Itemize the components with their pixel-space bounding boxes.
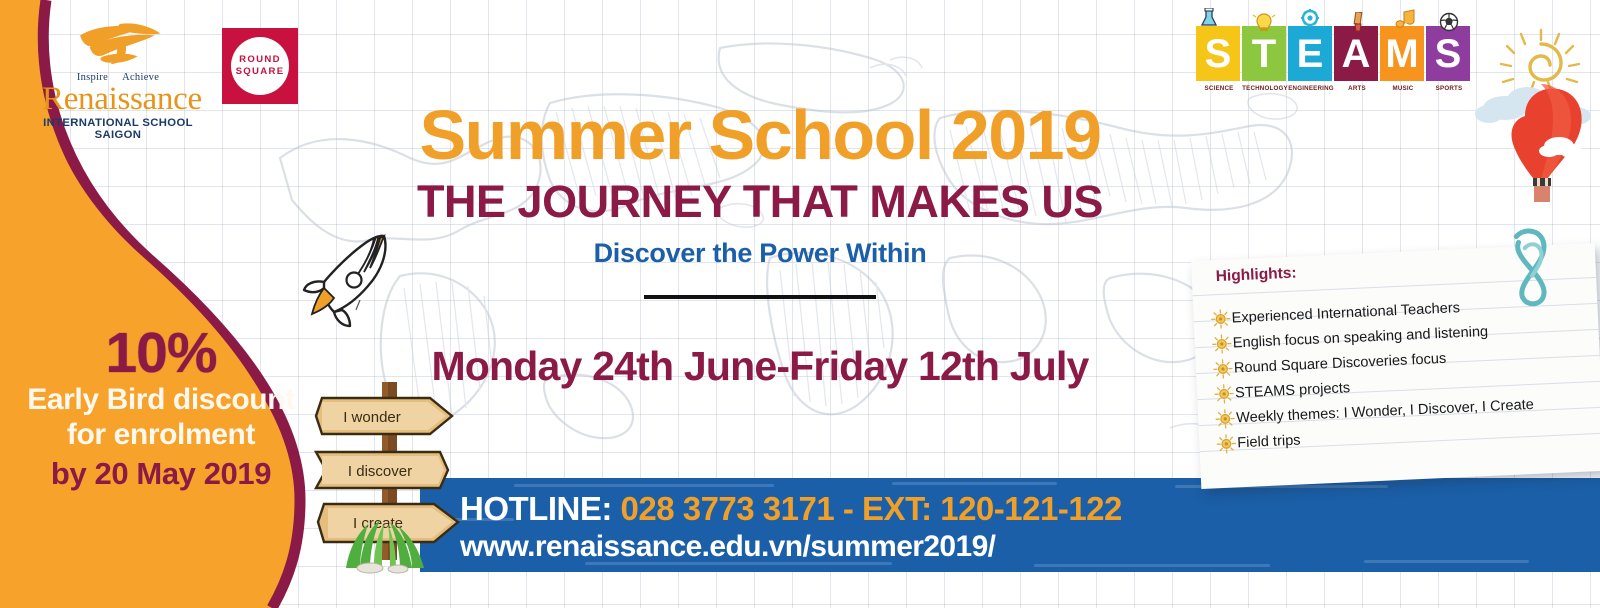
- promo-line-2: for enrolment: [0, 417, 322, 452]
- round-square-line-1: ROUND: [239, 54, 281, 66]
- steams-letter-science: SSCIENCE: [1196, 22, 1242, 92]
- round-square-line-2: SQUARE: [236, 66, 285, 78]
- round-square-logo: ROUND SQUARE: [222, 28, 298, 104]
- sky-decoration: [1475, 20, 1600, 210]
- steams-letter-box: S: [1426, 26, 1470, 81]
- page-tagline: Discover the Power Within: [330, 238, 1190, 269]
- sun-flower-icon: [1210, 332, 1233, 355]
- hotline-number: 028 3773 3171 - EXT: 120-121-122: [621, 490, 1122, 527]
- highlight-item-label: STEAMS projects: [1235, 380, 1351, 401]
- svg-text:I discover: I discover: [348, 463, 412, 480]
- highlight-item-label: Field trips: [1237, 432, 1301, 451]
- signpost-graphic: I wonder I discover I create: [312, 372, 472, 574]
- steams-letter-label: ARTS: [1334, 85, 1380, 92]
- spiral-sun-icon: [1501, 30, 1579, 90]
- highlights-title: Highlights:: [1215, 265, 1297, 287]
- lightbulb-icon: [1242, 12, 1286, 32]
- steams-letter-label: SPORTS: [1426, 85, 1472, 92]
- hotline-text: HOTLINE: 028 3773 3171 - EXT: 120-121-12…: [460, 490, 1122, 564]
- svg-text:I wonder: I wonder: [343, 409, 401, 426]
- steams-letter-label: ENGINEERING: [1288, 85, 1334, 92]
- divider: [644, 295, 876, 299]
- steams-letter-sports: SSPORTS: [1426, 26, 1472, 92]
- hotline-label: HOTLINE:: [460, 490, 612, 527]
- paintbrush-icon: [1334, 12, 1378, 32]
- steams-letter-box: S: [1196, 26, 1240, 81]
- headline-block: Summer School 2019 THE JOURNEY THAT MAKE…: [330, 100, 1190, 390]
- promo-deadline: by 20 May 2019: [0, 455, 322, 492]
- highlights-card: Highlights: Experienced International Te…: [1191, 243, 1600, 489]
- website-url[interactable]: www.renaissance.edu.vn/summer2019/: [460, 530, 1122, 564]
- steams-letter-engineering: EENGINEERING: [1288, 22, 1334, 92]
- page-subtitle: THE JOURNEY THAT MAKES US: [330, 176, 1190, 228]
- renaissance-subtitle: INTERNATIONAL SCHOOL SAIGON: [42, 117, 194, 141]
- sun-flower-icon: [1215, 432, 1238, 455]
- sun-flower-icon: [1213, 382, 1236, 405]
- sun-flower-icon: [1211, 357, 1234, 380]
- steams-letter-box: T: [1242, 26, 1286, 81]
- early-bird-promo: 10% Early Bird discount for enrolment by…: [0, 325, 322, 492]
- logo-group: InspireAchieve Renaissance INTERNATIONAL…: [42, 22, 298, 141]
- steams-letter-label: TECHNOLOGY: [1242, 85, 1288, 92]
- renaissance-logo: InspireAchieve Renaissance INTERNATIONAL…: [42, 22, 194, 141]
- signpost-sign-create: I create: [318, 504, 458, 542]
- steams-letter-arts: AARTS: [1334, 26, 1380, 92]
- flame-swoosh-icon: [61, 22, 176, 66]
- steams-letter-technology: TTECHNOLOGY: [1242, 26, 1288, 92]
- music-note-icon: [1380, 8, 1424, 28]
- steams-letter-label: MUSIC: [1380, 85, 1426, 92]
- page-title: Summer School 2019: [330, 100, 1190, 170]
- rocket-icon: [296, 228, 406, 328]
- paperclip-icon: [1490, 224, 1566, 311]
- sun-flower-icon: [1209, 307, 1232, 330]
- steams-letter-music: MMUSIC: [1380, 22, 1426, 92]
- beaker-icon: [1196, 8, 1240, 28]
- steams-letter-box: M: [1380, 26, 1424, 81]
- steams-letter-box: A: [1334, 26, 1378, 81]
- promo-line-1: Early Bird discount: [0, 382, 322, 417]
- steams-letter-label: SCIENCE: [1196, 85, 1242, 92]
- signpost-sign-wonder: I wonder: [316, 398, 452, 434]
- hotline-band: HOTLINE: 028 3773 3171 - EXT: 120-121-12…: [420, 478, 1600, 572]
- steams-letter-box: E: [1288, 26, 1332, 81]
- steams-logo: SSCIENCETTECHNOLOGYEENGINEERINGAARTSMMUS…: [1196, 22, 1472, 92]
- gear-icon: [1288, 8, 1332, 28]
- renaissance-name: Renaissance: [42, 83, 194, 117]
- soccer-ball-icon: [1426, 12, 1470, 32]
- signpost-sign-discover: I discover: [316, 452, 448, 488]
- summer-school-banner: 10% Early Bird discount for enrolment by…: [0, 0, 1600, 608]
- discount-percent: 10%: [0, 325, 322, 382]
- sun-flower-icon: [1214, 407, 1237, 430]
